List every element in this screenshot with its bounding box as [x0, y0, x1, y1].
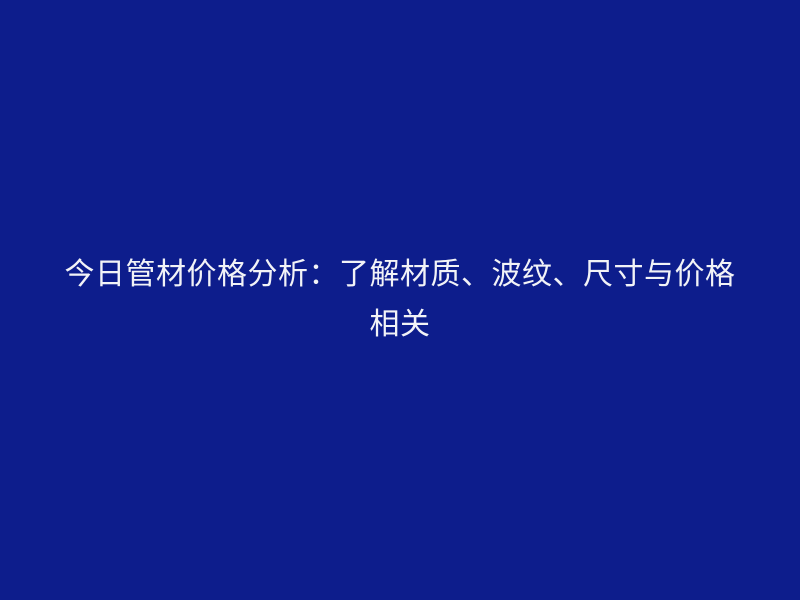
- title-block: 今日管材价格分析：了解材质、波纹、尺寸与价格相关: [50, 250, 750, 350]
- page-title: 今日管材价格分析：了解材质、波纹、尺寸与价格相关: [50, 250, 750, 350]
- slide-canvas: 今日管材价格分析：了解材质、波纹、尺寸与价格相关: [0, 0, 800, 600]
